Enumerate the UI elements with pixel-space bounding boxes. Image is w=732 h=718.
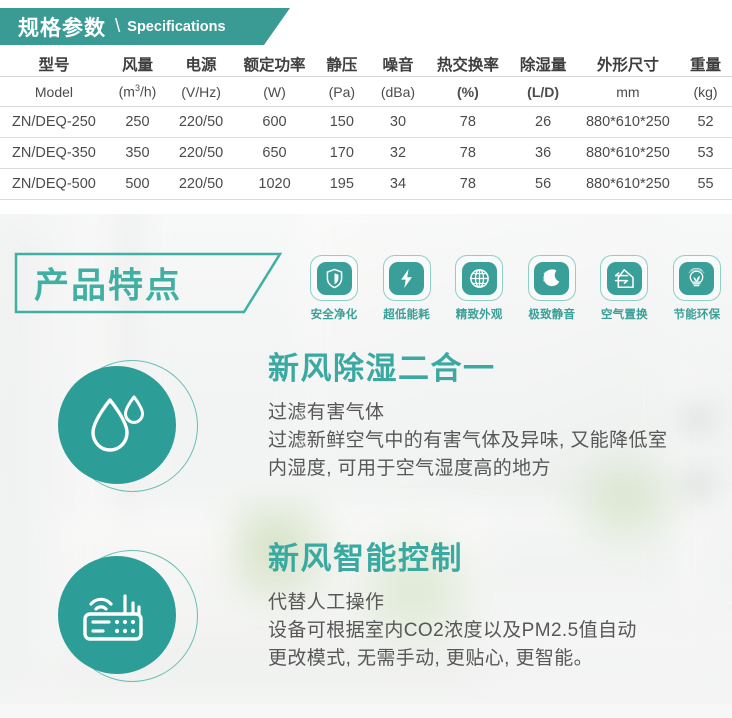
header-dehum-cn: 除湿量 <box>509 51 576 77</box>
circle-icon-background <box>58 556 176 674</box>
feature-icon-energy-saving[interactable]: 节能环保 <box>666 255 728 325</box>
cell-dimensions: 880*610*250 <box>577 138 679 169</box>
feature-line: 代替人工操作 <box>268 589 732 617</box>
cell-noise: 34 <box>370 169 427 200</box>
table-body: ZN/DEQ-250 250 220/50 600 150 30 78 26 8… <box>0 107 732 200</box>
feature-icon-air-exchange[interactable]: 空气置换 <box>593 255 655 325</box>
cell-supply: 220/50 <box>167 138 235 169</box>
feature-line: 设备可根据室内CO2浓度以及PM2.5值自动 <box>268 617 732 645</box>
cell-supply: 220/50 <box>167 107 235 138</box>
table-head: 型号 风量 电源 额定功率 静压 噪音 热交换率 除湿量 外形尺寸 重量 Mod… <box>0 51 732 107</box>
shield-icon <box>325 268 344 289</box>
table-row: ZN/DEQ-500 500 220/50 1020 195 34 78 56 … <box>0 169 732 200</box>
house-exchange-icon <box>613 268 635 289</box>
feature-line: 过滤有害气体 <box>268 399 732 427</box>
product-features-label: 产品特点 <box>34 258 182 309</box>
spec-banner-separator: \ <box>115 16 120 38</box>
feature-circle-icon-wrap <box>66 360 200 494</box>
product-features-title: 产品特点 <box>14 252 282 314</box>
spec-banner-title-cn: 规格参数 <box>18 12 106 42</box>
feature-text-block: 新风智能控制 代替人工操作 设备可根据室内CO2浓度以及PM2.5值自动 更改模… <box>268 542 732 673</box>
cell-supply: 220/50 <box>167 169 235 200</box>
header-noise-cn: 噪音 <box>370 51 427 77</box>
header-static-unit: (Pa) <box>314 77 370 107</box>
feature-text-block: 新风除湿二合一 过滤有害气体 过滤新鲜空气中的有害气体及异味, 又能降低室 内湿… <box>268 352 732 483</box>
feature-heading: 新风智能控制 <box>268 542 732 577</box>
feature-line: 过滤新鲜空气中的有害气体及异味, 又能降低室 <box>268 427 732 455</box>
header-static-cn: 静压 <box>314 51 370 77</box>
header-weight-cn: 重量 <box>679 51 732 77</box>
cell-weight: 55 <box>679 169 732 200</box>
header-dimension-unit: mm <box>577 77 679 107</box>
cell-heat: 78 <box>426 169 509 200</box>
cell-dehum: 56 <box>509 169 576 200</box>
cell-weight: 52 <box>679 107 732 138</box>
header-airflow-cn: 风量 <box>108 51 167 77</box>
header-noise-unit: (dBa) <box>370 77 427 107</box>
cell-airflow: 250 <box>108 107 167 138</box>
table-header-row-cn: 型号 风量 电源 额定功率 静压 噪音 热交换率 除湿量 外形尺寸 重量 <box>0 51 732 77</box>
header-airflow-unit: (m3/h) <box>108 77 167 107</box>
feature-icon-label: 安全净化 <box>311 306 358 322</box>
header-heat-cn: 热交换率 <box>426 51 509 77</box>
feature-icon-label: 极致静音 <box>528 306 575 322</box>
cell-heat: 78 <box>426 107 509 138</box>
footer-strip <box>0 704 732 718</box>
feature-block-smart-control: 新风智能控制 代替人工操作 设备可根据室内CO2浓度以及PM2.5值自动 更改模… <box>0 542 732 718</box>
header-weight-unit: (kg) <box>679 77 732 107</box>
header-dimension-cn: 外形尺寸 <box>577 51 679 77</box>
cell-static: 170 <box>314 138 370 169</box>
feature-icon-label: 超低能耗 <box>383 306 430 322</box>
feature-line: 更改模式, 无需手动, 更贴心, 更智能。 <box>268 645 732 673</box>
header-model-cn: 型号 <box>0 51 108 77</box>
header-supply-unit: (V/Hz) <box>167 77 235 107</box>
cell-dehum: 26 <box>509 107 576 138</box>
cell-weight: 53 <box>679 138 732 169</box>
lightbulb-leaf-icon <box>686 268 707 289</box>
cell-rated-power: 650 <box>235 138 314 169</box>
product-detail-page: 规格参数 \ Specifications 型号 风量 电源 额定功率 静压 噪… <box>0 0 732 718</box>
header-dehum-unit: (L/D) <box>509 77 576 107</box>
water-droplet-icon <box>84 390 150 460</box>
header-rated-unit: (W) <box>235 77 314 107</box>
feature-icon-ultra-quiet[interactable]: 极致静音 <box>521 255 583 325</box>
feature-icon-label: 节能环保 <box>674 306 721 322</box>
feature-line: 内湿度, 可用于空气湿度高的地方 <box>268 455 732 483</box>
table-header-row-unit: Model (m3/h) (V/Hz) (W) (Pa) (dBa) (%) (… <box>0 77 732 107</box>
moon-stars-icon <box>541 268 562 289</box>
spec-banner: 规格参数 \ Specifications <box>0 8 290 45</box>
table-row: ZN/DEQ-250 250 220/50 600 150 30 78 26 8… <box>0 107 732 138</box>
header-heat-unit: (%) <box>426 77 509 107</box>
cell-dimensions: 880*610*250 <box>577 107 679 138</box>
specifications-table: 型号 风量 电源 额定功率 静压 噪音 热交换率 除湿量 外形尺寸 重量 Mod… <box>0 51 732 200</box>
feature-icon-safe-purification[interactable]: 安全净化 <box>303 255 365 325</box>
cell-heat: 78 <box>426 138 509 169</box>
feature-icon-exquisite-appearance[interactable]: 精致外观 <box>448 255 510 325</box>
cell-static: 150 <box>314 107 370 138</box>
globe-icon <box>469 268 490 289</box>
feature-circle-icon-wrap <box>66 550 200 684</box>
spec-banner-title-en: Specifications <box>127 19 225 35</box>
feature-icon-row: 安全净化 超低能耗 <box>303 255 728 325</box>
feature-icon-label: 空气置换 <box>601 306 648 322</box>
cell-model: ZN/DEQ-350 <box>0 138 108 169</box>
router-wifi-icon <box>81 584 153 646</box>
cell-rated-power: 600 <box>235 107 314 138</box>
cell-dehum: 36 <box>509 138 576 169</box>
cell-noise: 30 <box>370 107 427 138</box>
feature-block-dehumidification: 新风除湿二合一 过滤有害气体 过滤新鲜空气中的有害气体及异味, 又能降低室 内湿… <box>0 352 732 542</box>
cell-model: ZN/DEQ-250 <box>0 107 108 138</box>
cell-static: 195 <box>314 169 370 200</box>
header-rated-cn: 额定功率 <box>235 51 314 77</box>
feature-icon-low-energy[interactable]: 超低能耗 <box>376 255 438 325</box>
cell-dimensions: 880*610*250 <box>577 169 679 200</box>
cell-airflow: 350 <box>108 138 167 169</box>
table-row: ZN/DEQ-350 350 220/50 650 170 32 78 36 8… <box>0 138 732 169</box>
feature-icon-label: 精致外观 <box>456 306 503 322</box>
cell-airflow: 500 <box>108 169 167 200</box>
circle-icon-background <box>58 366 176 484</box>
cell-noise: 32 <box>370 138 427 169</box>
header-model-unit: Model <box>0 77 108 107</box>
cell-rated-power: 1020 <box>235 169 314 200</box>
feature-heading: 新风除湿二合一 <box>268 352 732 387</box>
lightning-bolt-icon <box>398 268 415 289</box>
cell-model: ZN/DEQ-500 <box>0 169 108 200</box>
header-supply-cn: 电源 <box>167 51 235 77</box>
